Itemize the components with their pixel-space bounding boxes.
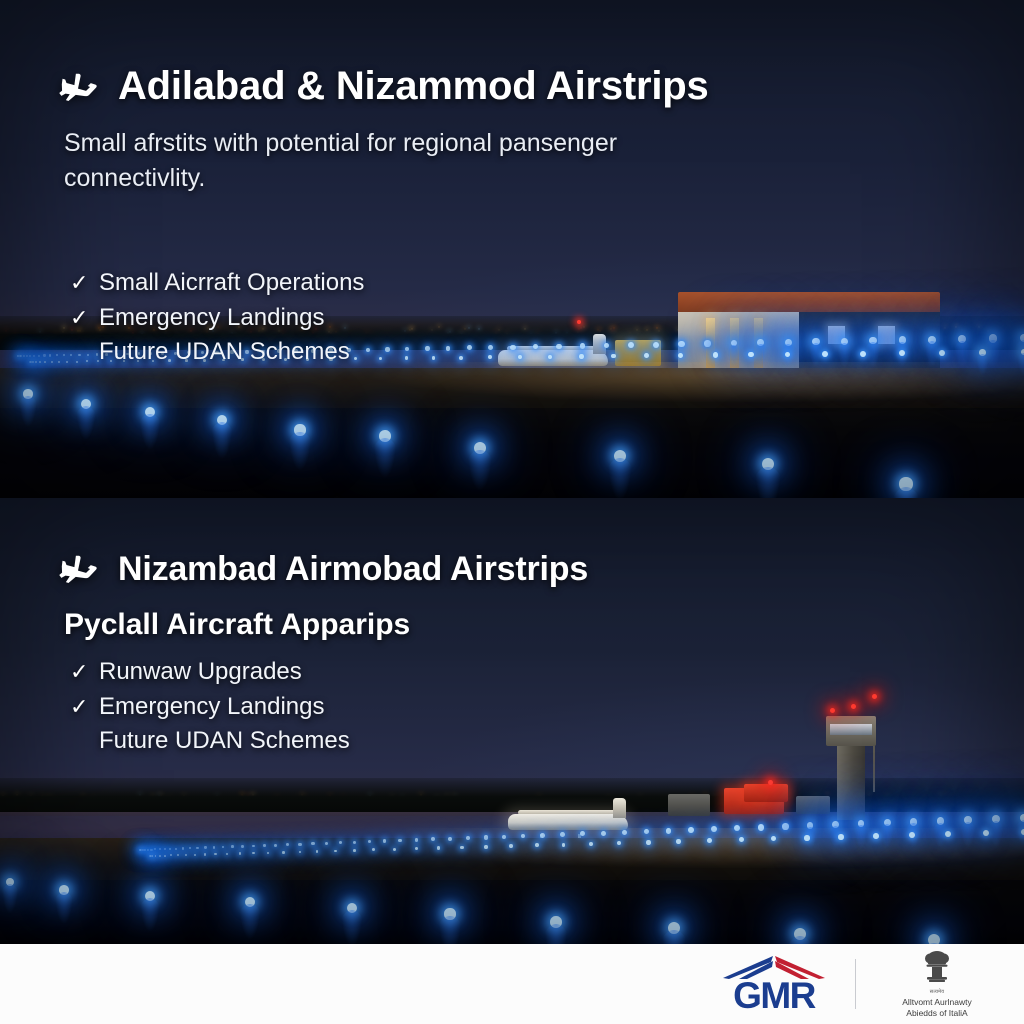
lion-capital-icon [920,950,954,988]
list-item-label: Emergency Landings [99,690,324,725]
panel-title: Adilabad & Nizammod Airstrips [118,64,709,109]
check-icon: ✓ [70,691,87,723]
emblem-line-1: Alltvomt Aurlnawty [878,997,996,1007]
check-icon: ✓ [70,656,87,688]
gmr-logo: GMR [715,955,833,1013]
feature-list: ✓ Runwaw Upgrades ✓ Emergency Landings ✓… [70,655,350,759]
list-item: ✓ Future UDAN Schemes [70,724,350,759]
list-item: ✓ Small Aicrraft Operations [70,266,364,301]
list-item-label: Future UDAN Schemes [99,335,350,370]
panel-heading: Adilabad & Nizammod Airstrips [56,64,709,109]
panel-text-content: Adilabad & Nizammod Airstrips Small afrs… [0,0,1024,498]
list-item-label: Small Aicrraft Operations [99,266,364,301]
panel-nizambad: Nizambad Airmobad Airstrips Pyclall Airc… [0,498,1024,944]
emblem-line-2: Abiedds of ItaliA [878,1008,996,1018]
list-item-label: Runwaw Upgrades [99,655,302,690]
gmr-wordmark: GMR [715,977,833,1014]
logo-divider [855,959,856,1009]
feature-list: ✓ Small Aicrraft Operations ✓ Emergency … [70,266,364,370]
panel-adilabad: Adilabad & Nizammod Airstrips Small afrs… [0,0,1024,498]
airplane-icon [56,67,100,107]
panel-subtitle: Small afrstits with potential for region… [64,126,684,195]
check-icon: ✓ [70,302,87,334]
list-item-label: Emergency Landings [99,301,324,336]
panel-title: Nizambad Airmobad Airstrips [118,550,588,589]
national-emblem-logo: सत्यमेव Alltvomt Aurlnawty Abiedds of It… [878,950,996,1017]
list-item-label: Future UDAN Schemes [99,724,350,759]
emblem-caption: सत्यमेव [878,989,996,995]
check-icon: ✓ [70,267,87,299]
panel-subtitle: Pyclall Aircraft Apparips [64,608,410,642]
list-item: ✓ Future UDAN Schemes [70,335,364,370]
list-item: ✓ Emergency Landings [70,690,350,725]
panel-text-content: Nizambad Airmobad Airstrips Pyclall Airc… [0,498,1024,944]
list-item: ✓ Runwaw Upgrades [70,655,350,690]
airplane-icon [56,549,100,589]
panel-heading: Nizambad Airmobad Airstrips [56,549,588,589]
poster: Adilabad & Nizammod Airstrips Small afrs… [0,0,1024,1024]
list-item: ✓ Emergency Landings [70,301,364,336]
logo-group: GMR सत्यमेव [715,950,1024,1017]
footer-logo-bar: GMR सत्यमेव [0,944,1024,1024]
